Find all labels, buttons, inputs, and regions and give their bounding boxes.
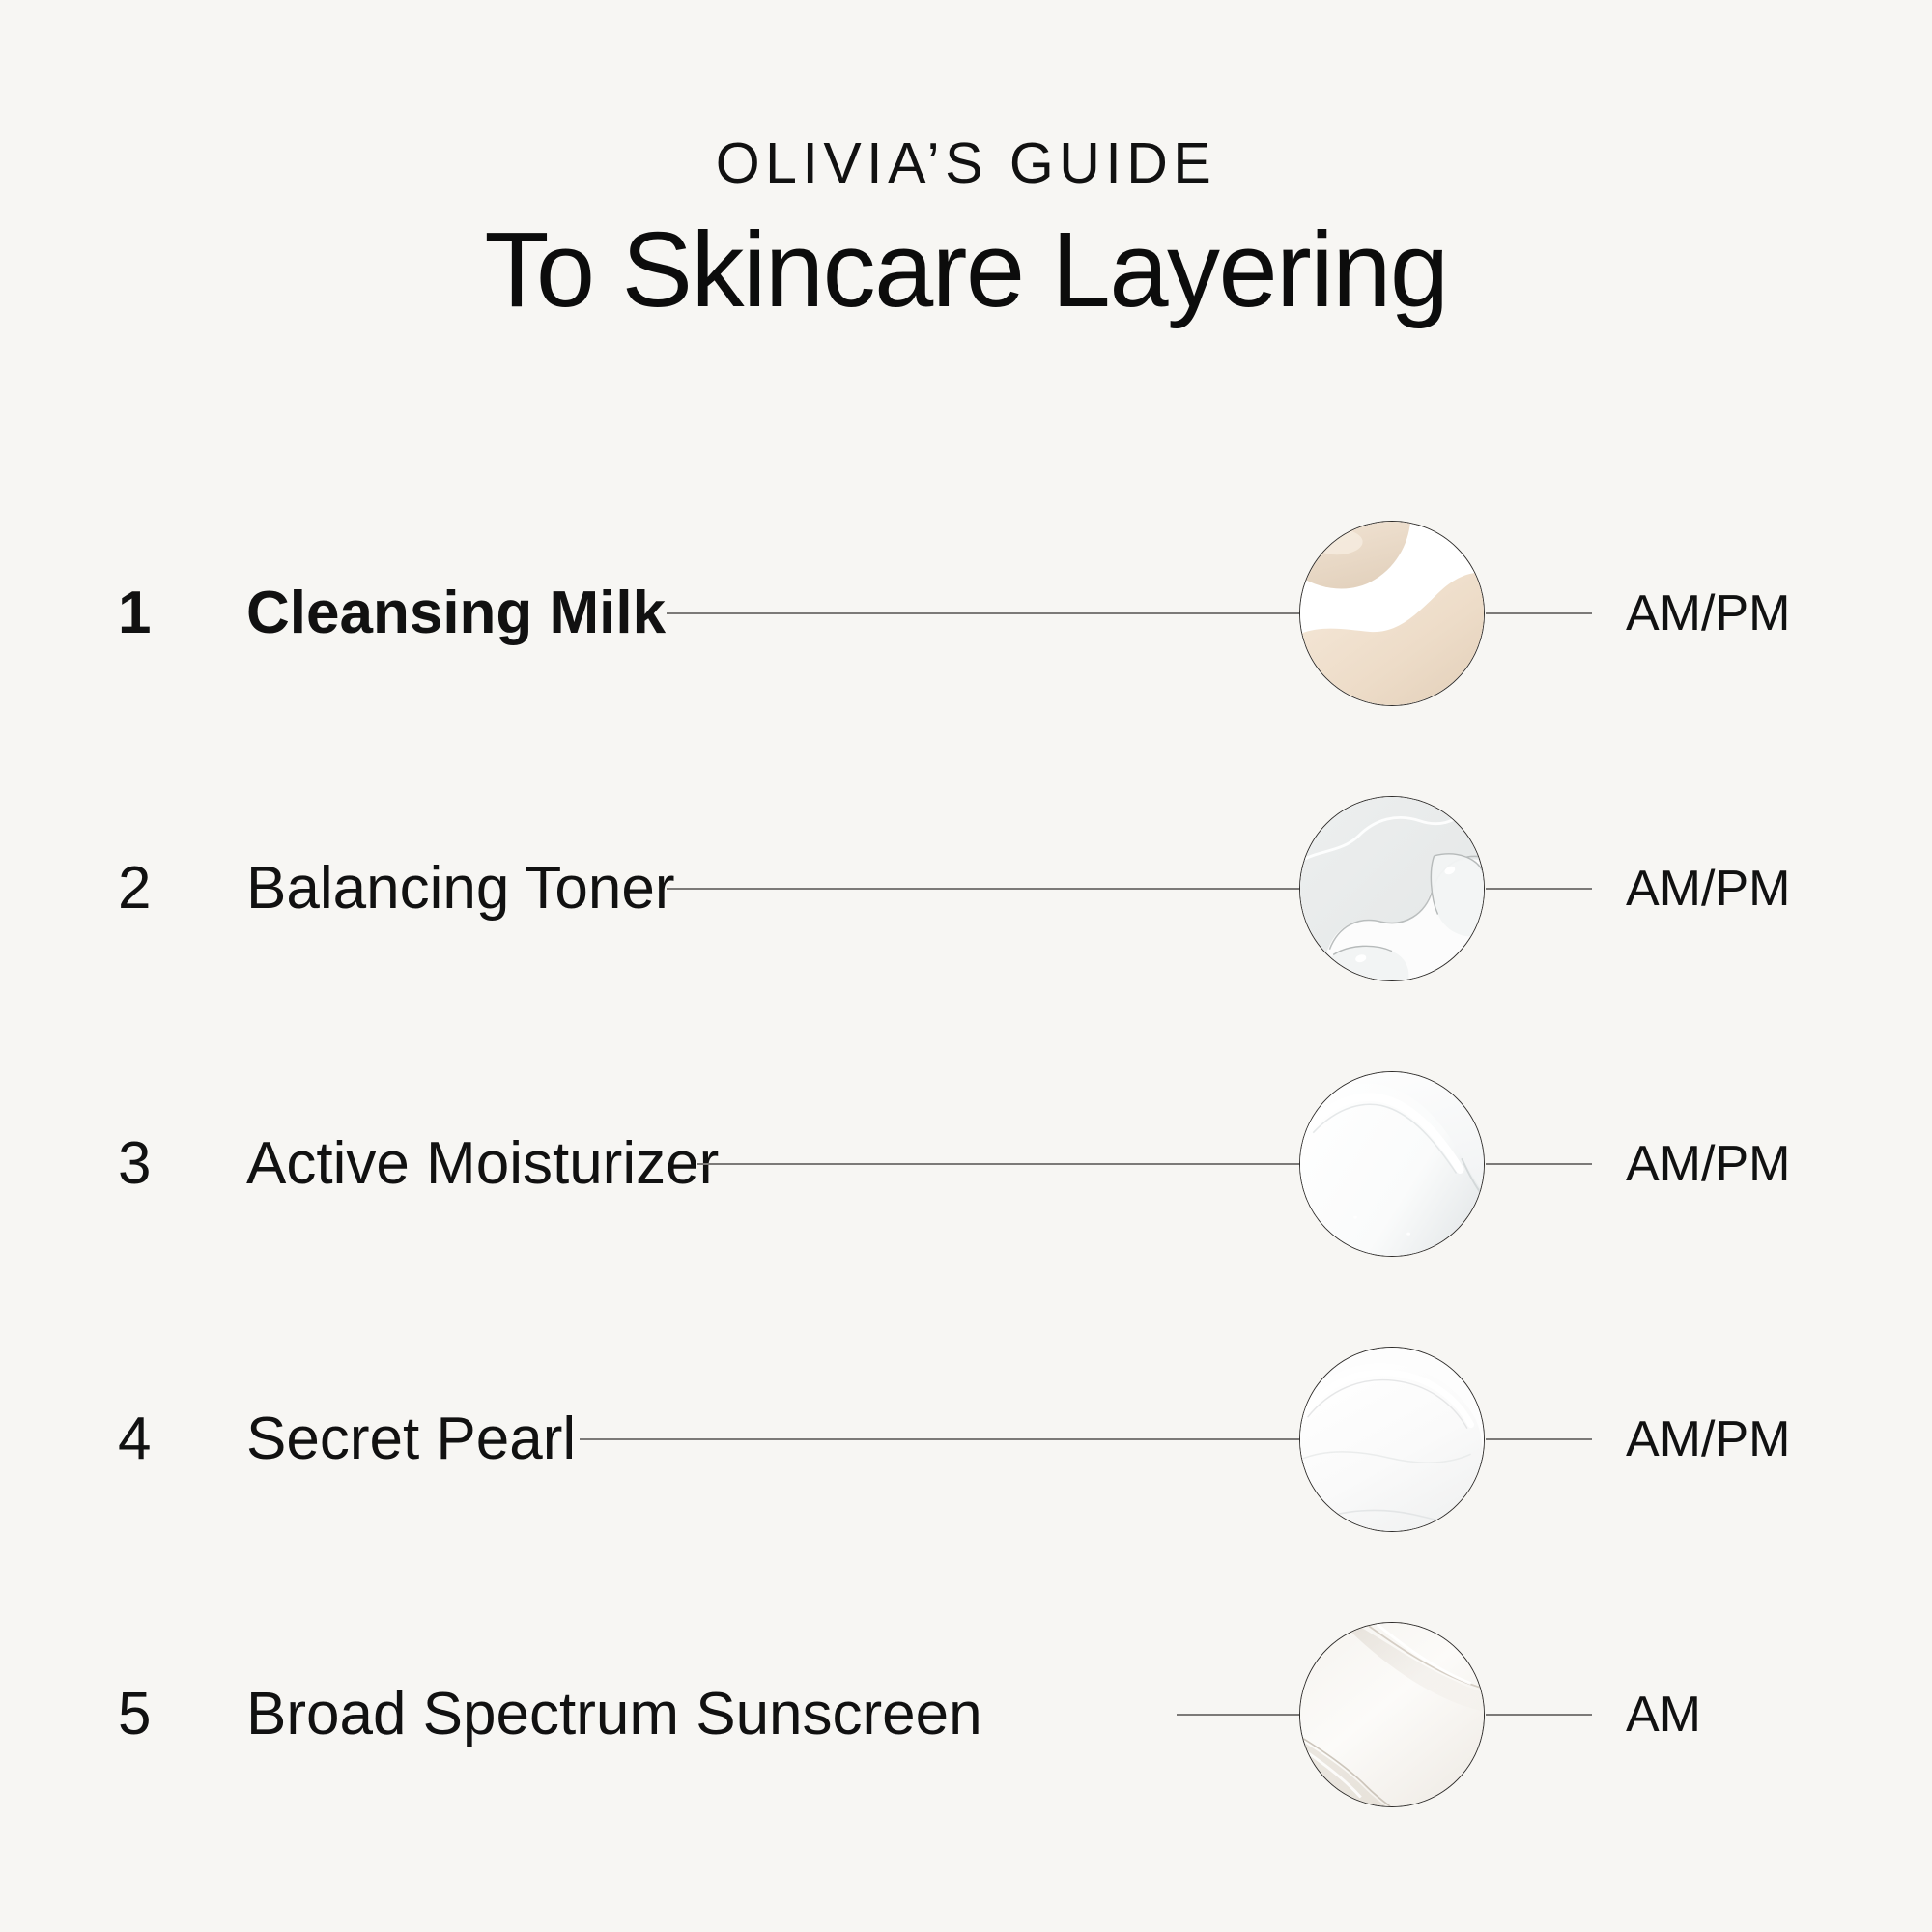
connector-line-left <box>667 612 1299 614</box>
step-label: Broad Spectrum Sunscreen <box>246 1685 982 1745</box>
connector-line-right <box>1486 1438 1592 1440</box>
active-moisturizer-texture-swatch <box>1299 1071 1485 1257</box>
list-item[interactable]: 1 Cleansing Milk <box>0 502 1932 724</box>
list-item[interactable]: 2 Balancing Toner <box>0 778 1932 1000</box>
step-number: 3 <box>118 1134 185 1194</box>
connector-line-left <box>697 1163 1299 1165</box>
list-item[interactable]: 5 Broad Spectrum Sunscreen <box>0 1604 1932 1826</box>
balancing-toner-texture-swatch <box>1299 796 1485 981</box>
step-period: AM/PM <box>1626 1139 1790 1189</box>
connector-line-right <box>1486 1714 1592 1716</box>
list-item[interactable]: 3 Active Moisturizer <box>0 1053 1932 1275</box>
secret-pearl-texture-swatch <box>1299 1347 1485 1532</box>
routine-step-list: 1 Cleansing Milk <box>0 502 1932 1855</box>
page-title: To Skincare Layering <box>0 208 1932 333</box>
step-period: AM/PM <box>1626 588 1790 639</box>
list-item[interactable]: 4 Secret Pearl AM/PM <box>0 1328 1932 1550</box>
connector-line-right <box>1486 612 1592 614</box>
step-label: Active Moisturizer <box>246 1134 719 1194</box>
step-number: 2 <box>118 859 185 919</box>
step-period: AM/PM <box>1626 864 1790 914</box>
cleansing-milk-texture-swatch <box>1299 521 1485 706</box>
step-label: Secret Pearl <box>246 1409 576 1469</box>
connector-line-right <box>1486 888 1592 890</box>
step-number: 5 <box>118 1685 185 1745</box>
connector-line-left <box>667 888 1299 890</box>
connector-line-left <box>1177 1714 1299 1716</box>
step-period: AM <box>1626 1690 1701 1740</box>
eyebrow-text: OLIVIA’S GUIDE <box>0 135 1932 192</box>
step-number: 1 <box>118 583 185 643</box>
connector-line-left <box>580 1438 1299 1440</box>
step-label: Cleansing Milk <box>246 583 666 643</box>
step-label: Balancing Toner <box>246 859 675 919</box>
connector-line-right <box>1486 1163 1592 1165</box>
step-number: 4 <box>118 1409 185 1469</box>
page-header: OLIVIA’S GUIDE To Skincare Layering <box>0 0 1932 333</box>
broad-spectrum-sunscreen-texture-swatch <box>1299 1622 1485 1807</box>
step-period: AM/PM <box>1626 1414 1790 1464</box>
